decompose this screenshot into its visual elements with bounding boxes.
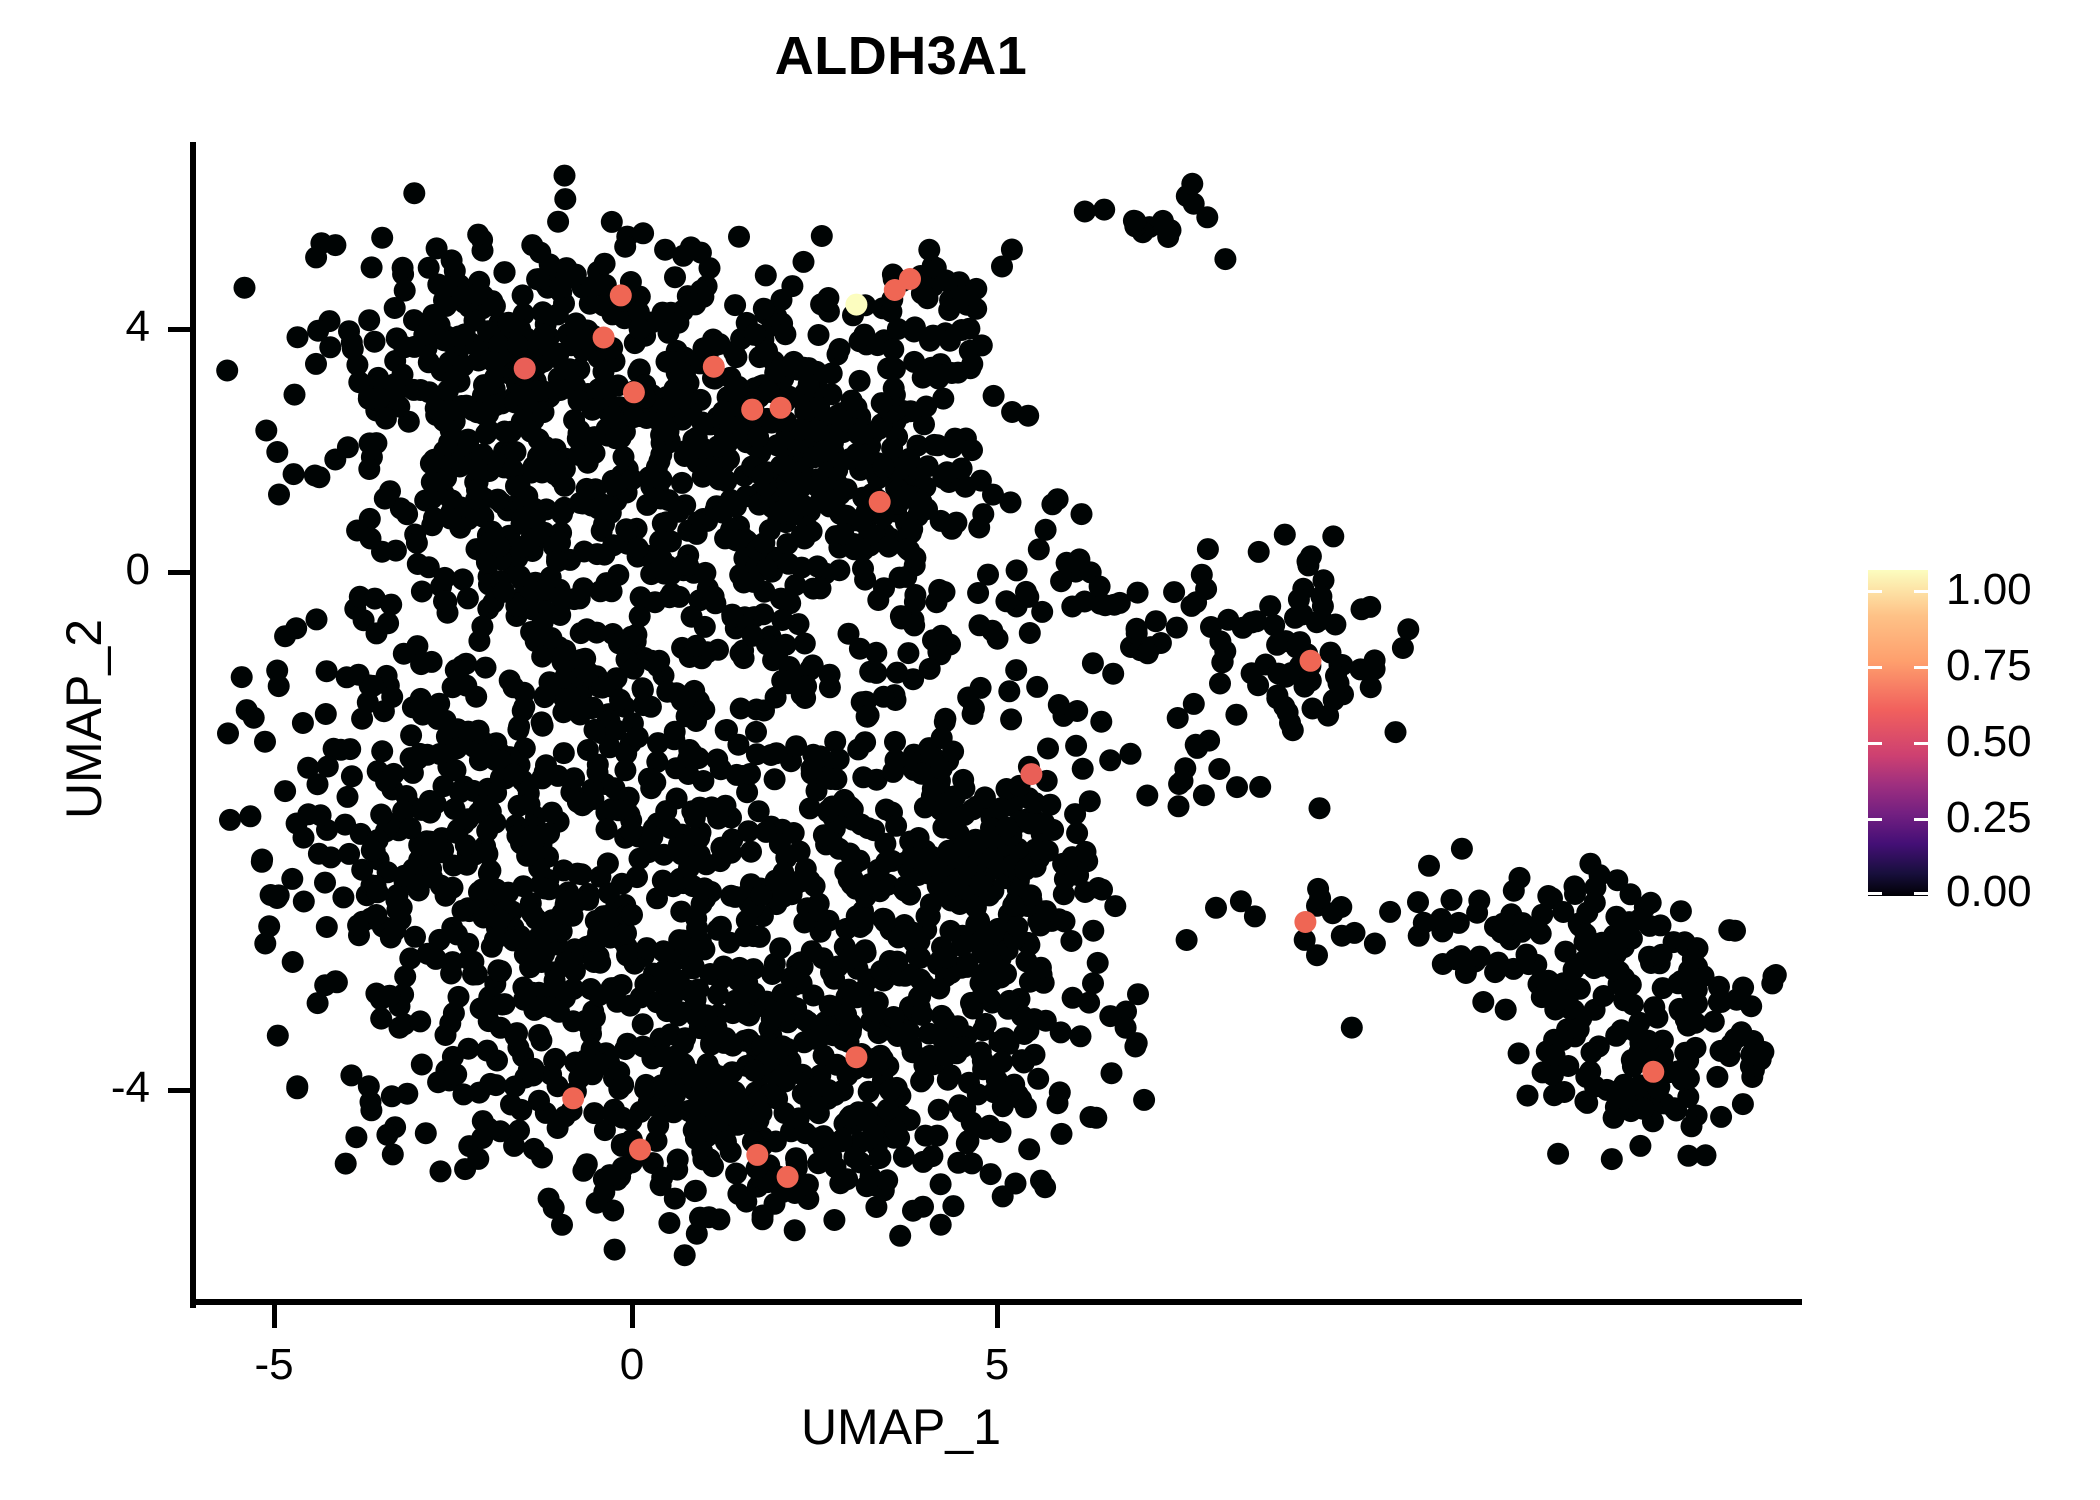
x-tick-mark-0 <box>630 1304 635 1328</box>
y-axis-line <box>190 142 196 1308</box>
colorbar-tick-025-right <box>1914 818 1928 821</box>
y-tick-label--4: -4 <box>30 1066 150 1110</box>
colorbar-tick-1-left <box>1868 590 1882 593</box>
colorbar-tick-075-right <box>1914 666 1928 669</box>
umap-feature-plot: ALDH3A1 4 0 -4 -5 0 5 UMAP_1 UMAP_2 1.00… <box>0 0 2100 1500</box>
colorbar-tick-05-left <box>1868 742 1882 745</box>
page-title: ALDH3A1 <box>0 24 1802 88</box>
colorbar-tick-05-right <box>1914 742 1928 745</box>
y-axis-title: UMAP_2 <box>55 399 113 1039</box>
x-tick-label-0: 0 <box>552 1340 712 1390</box>
y-tick-mark-4 <box>168 327 192 332</box>
colorbar-tick-0-right <box>1914 892 1928 895</box>
y-tick-mark--4 <box>168 1088 192 1093</box>
colorbar-label-05: 0.50 <box>1946 720 2100 764</box>
y-tick-mark-0 <box>168 570 192 575</box>
legend-colorbar: 1.00 0.75 0.50 0.25 0.00 <box>1868 570 2088 910</box>
x-axis-title: UMAP_1 <box>0 1398 1802 1456</box>
colorbar-gradient <box>1868 570 1928 896</box>
x-tick-mark-5 <box>995 1304 1000 1328</box>
scatter-points <box>194 142 1802 1302</box>
colorbar-label-025: 0.25 <box>1946 796 2100 840</box>
colorbar-label-0: 0.00 <box>1946 870 2100 914</box>
colorbar-tick-1-right <box>1914 590 1928 593</box>
colorbar-tick-025-left <box>1868 818 1882 821</box>
x-tick-mark--5 <box>272 1304 277 1328</box>
x-tick-label-5: 5 <box>917 1340 1077 1390</box>
colorbar-tick-0-left <box>1868 892 1882 895</box>
x-tick-label--5: -5 <box>194 1340 354 1390</box>
colorbar-label-1: 1.00 <box>1946 568 2100 612</box>
colorbar-label-075: 0.75 <box>1946 644 2100 688</box>
y-tick-label-4: 4 <box>30 305 150 349</box>
colorbar-tick-075-left <box>1868 666 1882 669</box>
scatter-panel <box>194 142 1802 1302</box>
